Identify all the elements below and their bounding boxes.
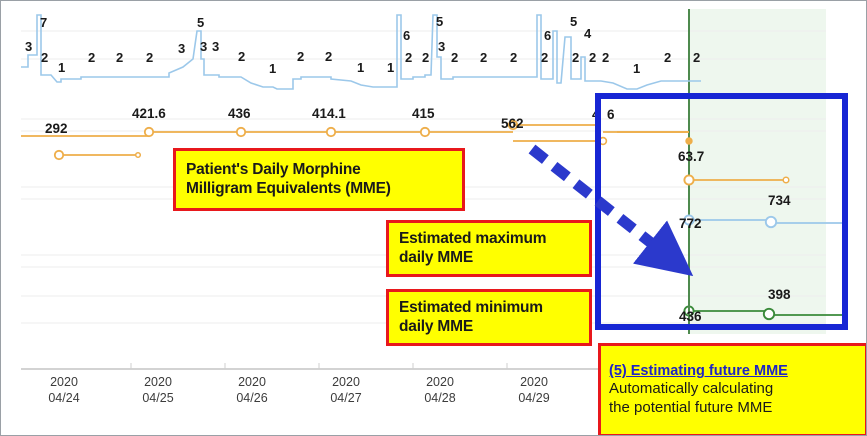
chart-data-label: 5 [197,15,204,30]
chart-data-label: 2020 [50,375,78,389]
chart-data-label: 421.6 [132,106,166,121]
daily-mme-lower-series[interactable] [55,151,141,159]
chart-data-label: 562 [501,116,524,131]
callout-estimating-future-mme: (5) Estimating future MME Automatically … [598,343,867,436]
x-tick-label: 202004/25 [142,375,173,405]
data-point-marker[interactable] [421,128,429,136]
chart-data-label: 436 [228,106,251,121]
chart-data-label: 2020 [520,375,548,389]
chart-data-label: 2 [664,50,671,65]
chart-data-label: 1 [387,60,394,75]
callout-heading: (5) Estimating future MME [609,362,857,380]
chart-data-label: 4 [584,26,592,41]
data-point-marker[interactable] [136,153,141,158]
chart-data-label: 292 [45,121,68,136]
chart-data-label: 2 [41,50,48,65]
data-point-marker[interactable] [327,128,335,136]
chart-data-label: 04/27 [330,391,361,405]
chart-data-label: 04/24 [48,391,79,405]
chart-data-label: 2 [88,50,95,65]
x-tick-label: 202004/28 [424,375,455,405]
data-point-marker[interactable] [237,128,245,136]
chart-data-label: 2 [297,49,304,64]
chart-data-label: 3 [200,39,207,54]
callout-line-2: the potential future MME [609,399,857,418]
data-point-marker[interactable] [600,138,607,145]
data-point-marker[interactable] [684,175,693,184]
chart-data-label: 2 [572,50,579,65]
chart-data-label: 5 [436,14,443,29]
chart-data-label: 5 [570,14,577,29]
chart-data-label: 6 [607,107,615,122]
pain-score-data-labels: 37212223533212211622532222652422122 [25,14,700,76]
chart-data-label: 415 [412,106,435,121]
chart-data-label: 2 [693,50,700,65]
chart-data-label: 2 [510,50,517,65]
x-tick-label: 202004/29 [518,375,549,405]
callout-estimated-maximum: Estimated maximum daily MME [386,220,592,277]
x-tick-label: 202004/27 [330,375,361,405]
chart-data-label: 2 [422,50,429,65]
chart-data-label: 2 [589,50,596,65]
chart-data-label: 414.1 [312,106,346,121]
chart-data-label: 2020 [144,375,172,389]
callout-line-1: Estimated minimum [399,299,579,318]
chart-data-label: 1 [58,60,65,75]
chart-data-label: 04/28 [424,391,455,405]
chart-data-label: 2 [116,50,123,65]
chart-data-label: 772 [679,216,702,231]
chart-data-label: 2 [480,50,487,65]
chart-data-label: 04/25 [142,391,173,405]
chart-data-label: 2 [146,50,153,65]
chart-data-label: 2 [325,49,332,64]
chart-data-label: 3 [212,39,219,54]
chart-data-label: 6 [403,28,410,43]
callout-line-2: daily MME [399,318,579,337]
x-tick-label: 202004/26 [236,375,267,405]
callout-line-2: Milligram Equivalents (MME) [186,180,452,199]
screenshot-root: 37212223533212211622532222652422122 2924… [0,0,867,436]
chart-data-label: 2 [451,50,458,65]
x-axis-ticks [131,363,601,369]
chart-data-label: 3 [25,39,32,54]
chart-data-label: 1 [633,61,640,76]
chart-data-label: 2 [238,49,245,64]
chart-data-label: 2020 [238,375,266,389]
data-point-marker[interactable] [145,128,153,136]
data-point-marker[interactable] [766,217,776,227]
chart-data-label: 2020 [426,375,454,389]
chart-data-label: 04/29 [518,391,549,405]
chart-data-label: 398 [768,287,791,302]
chart-data-label: 2 [405,50,412,65]
data-point-marker[interactable] [764,309,774,319]
callout-line-1: Estimated maximum [399,230,579,249]
callout-estimated-minimum: Estimated minimum daily MME [386,289,592,346]
data-point-marker[interactable] [55,151,63,159]
data-point-marker[interactable] [686,138,692,144]
chart-data-label: 1 [357,60,364,75]
data-point-marker[interactable] [783,177,789,183]
chart-data-label: 1 [269,61,276,76]
chart-data-label: 04/26 [236,391,267,405]
callout-line-2: daily MME [399,249,579,268]
x-axis-tick-labels: 202004/24202004/25202004/26202004/272020… [48,375,642,405]
chart-data-label: 436 [679,309,702,324]
x-tick-label: 202004/24 [48,375,79,405]
chart-data-label: 3 [178,41,185,56]
chart-data-label: 2020 [332,375,360,389]
callout-line-1: Automatically calculating [609,380,857,399]
chart-data-label: 7 [40,15,47,30]
chart-data-label: 4 [592,107,600,122]
chart-data-label: 63.7 [678,149,704,164]
daily-mme-upper-series[interactable] [21,121,692,145]
future-period-shading [689,9,826,334]
chart-data-label: 3 [438,39,445,54]
chart-data-label: 2 [541,50,548,65]
chart-data-label: 6 [544,28,551,43]
chart-data-label: 734 [768,193,791,208]
callout-line-1: Patient's Daily Morphine [186,161,452,180]
chart-data-label: 2 [602,50,609,65]
callout-daily-mme: Patient's Daily Morphine Milligram Equiv… [173,148,465,211]
